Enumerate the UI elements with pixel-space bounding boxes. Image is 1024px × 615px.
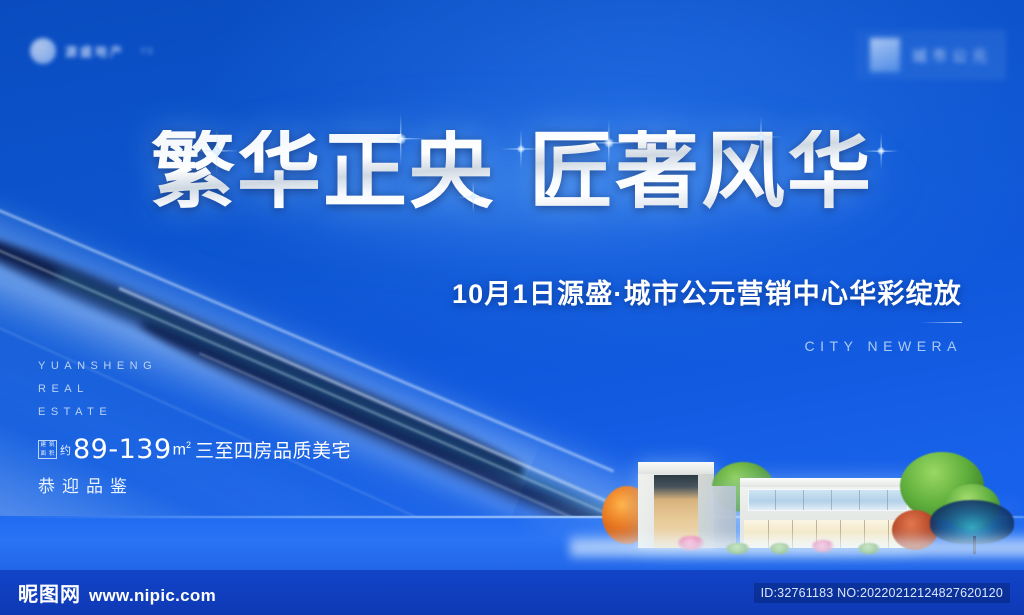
badge-char-1: 建 — [39, 441, 48, 450]
building-area-badge-icon: 建 筑 面 积 — [38, 440, 57, 459]
logo-left-wordmark: 源盛地产 — [65, 43, 125, 60]
logo-left: 源盛地产 YS — [30, 38, 154, 64]
badge-char-4: 积 — [48, 450, 57, 459]
spec-description: 三至四房品质美宅 — [195, 436, 351, 463]
pavilion-roof — [740, 478, 916, 487]
headline: 繁华正央匠著风华 — [0, 130, 1024, 216]
project-mark-icon — [870, 38, 900, 72]
headline-part-1: 繁华正央 — [151, 126, 495, 219]
ground-haze — [570, 532, 1024, 558]
subtitle: 10月1日源盛·城市公元营销中心华彩绽放 — [452, 272, 962, 311]
brand-line-3: ESTATE — [38, 401, 157, 424]
logo-left-sub: YS — [140, 46, 154, 56]
badge-char-2: 筑 — [48, 441, 57, 450]
tagline-english: CITY NEWERA — [805, 338, 962, 354]
pavilion-upper-glazing — [748, 489, 908, 511]
brand-english-block: YUANSHENG REAL ESTATE — [38, 355, 157, 424]
badge-char-3: 面 — [39, 450, 48, 459]
brand-line-2: REAL — [38, 378, 157, 401]
watermark-url: www.nipic.com — [89, 586, 216, 606]
footer-bar: 昵图网 www.nipic.com ID:32761183 NO:2022021… — [0, 570, 1024, 615]
watermark: 昵图网 www.nipic.com — [18, 578, 216, 607]
spec-unit: m2 — [173, 440, 191, 459]
logo-right: 城市公元 — [856, 30, 1006, 80]
headline-part-2: 匠著风华 — [529, 126, 873, 219]
tower-cap — [638, 462, 714, 474]
logo-right-wordmark: 城市公元 — [912, 45, 992, 66]
poster-canvas: 源盛地产 YS 城市公元 繁华正央匠著风华 10月1日源盛·城市公元营销中心华彩… — [0, 0, 1024, 615]
brand-mark-icon — [30, 38, 56, 64]
spec-area-range: 89-139 — [73, 434, 172, 465]
invite-text: 恭迎品鉴 — [38, 472, 134, 497]
spec-line: 建 筑 面 积 约 89-139 m2 三至四房品质美宅 — [38, 434, 351, 465]
subtitle-divider — [920, 322, 962, 323]
specular-glint-1 — [0, 196, 614, 473]
building-scene — [600, 430, 1024, 560]
watermark-cn: 昵图网 — [18, 578, 81, 607]
spec-approx: 约 — [60, 442, 71, 458]
asset-id-meta: ID:32761183 NO:20220212124827620120 — [754, 583, 1010, 603]
brand-line-1: YUANSHENG — [38, 355, 157, 378]
